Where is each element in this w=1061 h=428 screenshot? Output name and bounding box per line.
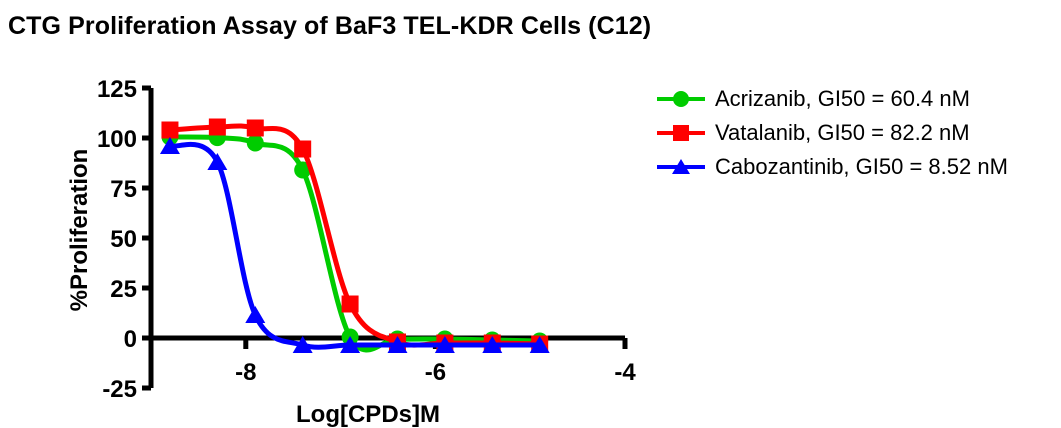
data-point [294, 141, 311, 158]
data-point [247, 135, 264, 152]
legend-marker-circle-icon [655, 88, 707, 110]
plot-area: -250255075100125-8-6-4Log[CPDs]M%Prolife… [0, 0, 1061, 428]
x-axis-tick-label: -6 [425, 359, 446, 386]
y-axis-tick-label: -25 [102, 376, 137, 403]
series-vatalanib [161, 119, 548, 353]
chart-container: CTG Proliferation Assay of BaF3 TEL-KDR … [0, 0, 1061, 428]
y-axis-tick-label: 100 [97, 126, 137, 153]
x-axis-tick-label: -4 [614, 359, 636, 386]
chart-legend: Acrizanib, GI50 = 60.4 nM Vatalanib, GI5… [655, 82, 1055, 184]
legend-item-vatalanib[interactable]: Vatalanib, GI50 = 82.2 nM [655, 116, 1055, 150]
y-axis-tick-label: 0 [124, 326, 137, 353]
data-point [247, 120, 264, 137]
legend-label-acrizanib: Acrizanib, GI50 = 60.4 nM [715, 86, 970, 112]
legend-item-acrizanib[interactable]: Acrizanib, GI50 = 60.4 nM [655, 82, 1055, 116]
y-axis-tick-label: 50 [110, 226, 137, 253]
data-point [245, 306, 265, 323]
data-point [209, 119, 226, 136]
series-cabozantinib [160, 137, 550, 353]
legend-marker-square-icon [655, 122, 707, 144]
x-axis-title: Log[CPDs]M [296, 401, 440, 428]
legend-marker-triangle-icon [655, 156, 707, 178]
y-axis-title: %Proliferation [66, 149, 93, 312]
data-point [342, 296, 359, 313]
x-axis-tick-label: -8 [235, 359, 256, 386]
legend-label-cabozantinib: Cabozantinib, GI50 = 8.52 nM [715, 154, 1008, 180]
y-axis-tick-label: 125 [97, 76, 137, 103]
data-point [161, 122, 178, 139]
y-axis-tick-label: 75 [110, 176, 137, 203]
legend-item-cabozantinib[interactable]: Cabozantinib, GI50 = 8.52 nM [655, 150, 1055, 184]
y-axis-tick-label: 25 [110, 276, 137, 303]
legend-label-vatalanib: Vatalanib, GI50 = 82.2 nM [715, 120, 970, 146]
